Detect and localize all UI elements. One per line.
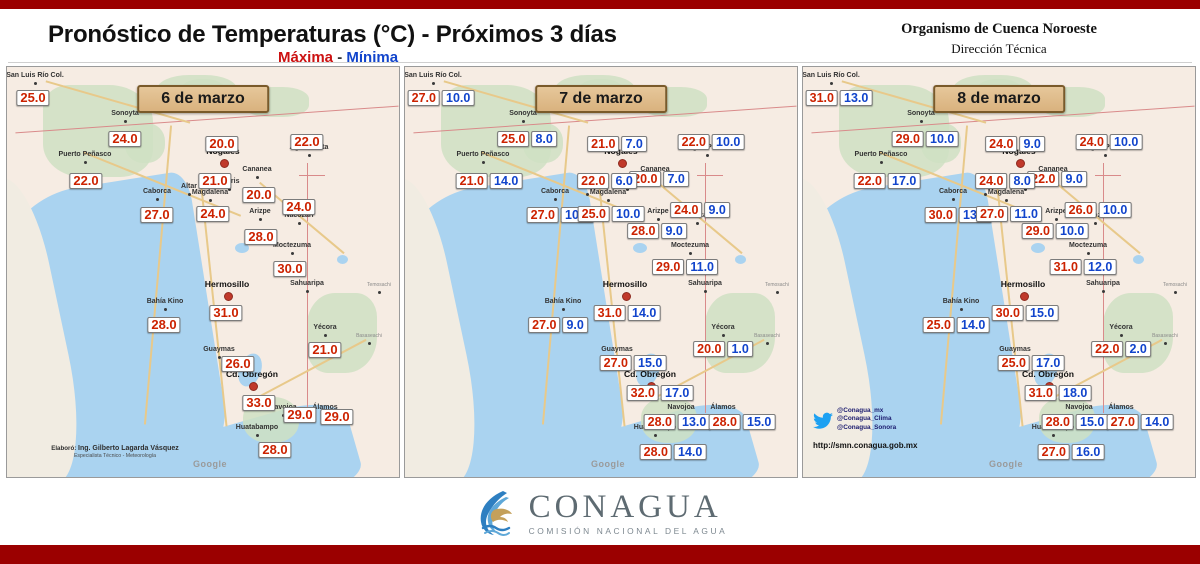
city-dot-icon	[776, 291, 779, 294]
temperature-reading-puerto-penasco: 21.014.0	[456, 173, 523, 189]
city-dot-icon	[704, 290, 707, 293]
city-dot-icon	[1087, 252, 1090, 255]
date-banner-7-de-marzo: 7 de marzo	[535, 85, 667, 113]
temperature-reading-moctezuma: 30.0	[273, 261, 306, 277]
legend-separator: -	[333, 49, 346, 66]
city-label: Sahuaripa	[1086, 280, 1120, 287]
city-dot-icon	[984, 193, 987, 196]
city-dot-icon	[218, 356, 221, 359]
city-label: Álamos	[1108, 404, 1133, 411]
temperature-reading-huatabampo: 27.016.0	[1038, 444, 1105, 460]
city-dot-icon	[1102, 290, 1105, 293]
temperature-reading-imuris: 24.08.0	[975, 173, 1035, 189]
state-border	[697, 175, 723, 176]
temperature-reading-nogales: 21.07.0	[587, 136, 647, 152]
max-temperature-value: 21.0	[587, 136, 619, 152]
temperature-reading-guaymas: 25.017.0	[998, 355, 1065, 371]
max-temperature-value: 27.0	[140, 207, 173, 223]
temperature-reading-imuris: 21.0	[198, 173, 231, 189]
min-temperature-value: 10.0	[1110, 134, 1142, 150]
city-dot-icon	[522, 120, 525, 123]
min-temperature-value: 2.0	[1125, 341, 1150, 357]
max-temperature-value: 28.0	[640, 444, 672, 460]
handle-2[interactable]: @Conagua_Clima	[837, 415, 896, 423]
max-temperature-value: 31.0	[1050, 259, 1082, 275]
city-dot-icon	[722, 334, 725, 337]
temperature-reading-bahia-kino: 25.014.0	[923, 317, 990, 333]
min-temperature-value: 15.0	[1026, 305, 1058, 321]
city-label: Bahía Kino	[545, 298, 582, 305]
city-dot-icon	[482, 161, 485, 164]
temperature-reading-navojoa: 28.015.0	[1042, 414, 1109, 430]
max-temperature-value: 30.0	[992, 305, 1024, 321]
max-temperature-value: 31.0	[1025, 385, 1057, 401]
legend-max-label: Máxima	[278, 49, 333, 66]
temperature-reading-magdalena: 27.011.0	[976, 206, 1042, 222]
min-temperature-value: 7.0	[663, 171, 688, 187]
min-temperature-value: 9.0	[661, 223, 686, 239]
logo-wordmark: CONAGUA	[529, 490, 728, 524]
map-canvas[interactable]: GoogleSan Luis Río Col.SonoytaPuerto Peñ…	[7, 67, 399, 477]
max-temperature-value: 30.0	[273, 261, 306, 277]
city-dot-icon	[220, 159, 229, 168]
temperature-reading-arizpe: 28.0	[244, 229, 277, 245]
map-panel-6-de-marzo: GoogleSan Luis Río Col.SonoytaPuerto Peñ…	[6, 66, 400, 478]
city-dot-icon	[378, 291, 381, 294]
map-panel-7-de-marzo: GoogleSan Luis Río Col.SonoytaPuerto Peñ…	[404, 66, 798, 478]
city-dot-icon	[164, 308, 167, 311]
min-temperature-value: 11.0	[686, 259, 718, 275]
city-label: Arizpe	[1045, 208, 1066, 215]
credit-author-name: Ing. Gilberto Lagarda Vásquez	[78, 445, 179, 452]
min-temperature-value: 13.0	[840, 90, 872, 106]
temperature-reading-imuris: 22.06.0	[577, 173, 637, 189]
map-panel-8-de-marzo: GoogleSan Luis Río Col.SonoytaPuerto Peñ…	[802, 66, 1196, 478]
max-temperature-value: 27.0	[1107, 414, 1139, 430]
max-temperature-value: 24.0	[1076, 134, 1108, 150]
temperature-reading-arizpe: 29.010.0	[1022, 223, 1089, 239]
max-temperature-value: 31.0	[209, 305, 242, 321]
city-label: San Luis Río Col.	[803, 72, 860, 79]
max-temperature-value: 26.0	[1065, 202, 1097, 218]
city-label: Puerto Peñasco	[855, 151, 908, 158]
max-temperature-value: 29.0	[1022, 223, 1054, 239]
temperature-reading-sonoyta: 25.08.0	[497, 131, 557, 147]
city-dot-icon	[1120, 334, 1123, 337]
map-attribution: Google	[989, 459, 1023, 469]
city-dot-icon	[1016, 159, 1025, 168]
temperature-reading-agua-prieta: 22.0	[290, 134, 323, 150]
organization-name: Organismo de Cuenca Noroeste	[834, 21, 1164, 38]
max-temperature-value: 32.0	[627, 385, 659, 401]
temperature-reading-alamos: 27.014.0	[1107, 414, 1174, 430]
temperature-reading-cd-obregon: 31.018.0	[1025, 385, 1092, 401]
top-red-bar	[0, 0, 1200, 9]
city-label: Sonoyta	[111, 110, 139, 117]
temperature-reading-guaymas: 26.0	[221, 356, 254, 372]
city-dot-icon	[689, 252, 692, 255]
max-temperature-value: 22.0	[69, 173, 102, 189]
city-dot-icon	[1005, 199, 1008, 202]
twitter-handles: @Conagua_mx@Conagua_Clima@Conagua_Sonora	[837, 407, 896, 432]
min-temperature-value: 10.0	[1056, 223, 1088, 239]
min-temperature-value: 9.0	[562, 317, 587, 333]
legend-min-label: Mínima	[346, 49, 398, 66]
city-label: Bahía Kino	[943, 298, 980, 305]
max-temperature-value: 22.0	[577, 173, 609, 189]
handle-3[interactable]: @Conagua_Sonora	[837, 424, 896, 432]
city-label: Guaymas	[601, 346, 633, 353]
max-temperature-value: 28.0	[709, 414, 741, 430]
city-label: Navojoa	[1065, 404, 1092, 411]
city-dot-icon	[308, 154, 311, 157]
city-dot-icon	[34, 82, 37, 85]
max-temperature-value: 25.0	[497, 131, 529, 147]
max-temperature-value: 30.0	[925, 207, 957, 223]
max-temperature-value: 29.0	[283, 407, 316, 423]
city-label: Guaymas	[203, 346, 235, 353]
city-label: Moctezuma	[273, 242, 311, 249]
city-label: Guaymas	[999, 346, 1031, 353]
max-temperature-value: 27.0	[528, 317, 560, 333]
min-temperature-value: 13.0	[678, 414, 710, 430]
city-dot-icon	[1094, 222, 1097, 225]
city-label: Temosachi	[367, 282, 391, 288]
date-banner-8-de-marzo: 8 de marzo	[933, 85, 1065, 113]
temperature-reading-caborca: 27.0	[140, 207, 173, 223]
city-dot-icon	[224, 292, 233, 301]
max-temperature-value: 24.0	[975, 173, 1007, 189]
reservoir	[735, 255, 746, 264]
temperature-reading-moctezuma: 31.012.0	[1050, 259, 1117, 275]
min-temperature-value: 14.0	[957, 317, 989, 333]
max-temperature-value: 21.0	[198, 173, 231, 189]
min-temperature-value: 18.0	[1059, 385, 1091, 401]
city-dot-icon	[259, 218, 262, 221]
city-dot-icon	[952, 198, 955, 201]
city-dot-icon	[920, 120, 923, 123]
city-label: Caborca	[541, 188, 569, 195]
city-label: Arizpe	[249, 208, 270, 215]
temperature-reading-cananea: 20.07.0	[629, 171, 689, 187]
map-attribution: Google	[591, 459, 625, 469]
temperature-reading-bahia-kino: 27.09.0	[528, 317, 588, 333]
min-temperature-value: 14.0	[490, 173, 522, 189]
temperature-reading-cd-obregon: 32.017.0	[627, 385, 694, 401]
temperature-reading-guaymas: 27.015.0	[600, 355, 667, 371]
max-temperature-value: 25.0	[578, 206, 610, 222]
city-label: Caborca	[143, 188, 171, 195]
min-temperature-value: 10.0	[712, 134, 744, 150]
city-dot-icon	[156, 198, 159, 201]
max-temperature-value: 31.0	[806, 90, 838, 106]
city-label: San Luis Río Col.	[7, 72, 64, 79]
min-temperature-value: 10.0	[612, 206, 644, 222]
min-temperature-value: 15.0	[634, 355, 666, 371]
temperature-reading-agua-prieta: 24.010.0	[1076, 134, 1143, 150]
conagua-logo: CONAGUA COMISIÓN NACIONAL DEL AGUA	[0, 484, 1200, 542]
city-dot-icon	[324, 334, 327, 337]
city-label: Temosachi	[1163, 282, 1187, 288]
city-dot-icon	[298, 222, 301, 225]
city-dot-icon	[622, 292, 631, 301]
legend: Máxima - Mínima	[278, 49, 398, 66]
city-dot-icon	[880, 161, 883, 164]
city-dot-icon	[562, 308, 565, 311]
city-dot-icon	[368, 342, 371, 345]
map-canvas[interactable]: GoogleSan Luis Río Col.SonoytaPuerto Peñ…	[803, 67, 1195, 477]
city-label: Moctezuma	[1069, 242, 1107, 249]
city-dot-icon	[554, 198, 557, 201]
max-temperature-value: 29.0	[892, 131, 924, 147]
min-temperature-value: 8.0	[531, 131, 556, 147]
min-temperature-value: 7.0	[621, 136, 646, 152]
temperature-reading-san-luis-rio-col: 25.0	[16, 90, 49, 106]
city-label: Magdalena	[192, 189, 228, 196]
city-label: Navojoa	[667, 404, 694, 411]
temperature-reading-puerto-penasco: 22.0	[69, 173, 102, 189]
temperature-reading-magdalena: 24.0	[196, 206, 229, 222]
min-temperature-value: 14.0	[1141, 414, 1173, 430]
city-label: Temosachi	[765, 282, 789, 288]
city-label: Sonoyta	[509, 110, 537, 117]
city-dot-icon	[306, 290, 309, 293]
city-label: Puerto Peñasco	[457, 151, 510, 158]
state-border	[1103, 163, 1104, 413]
city-label: Sahuaripa	[688, 280, 722, 287]
city-dot-icon	[124, 120, 127, 123]
max-temperature-value: 28.0	[258, 442, 291, 458]
temperature-reading-huatabampo: 28.0	[258, 442, 291, 458]
temperature-reading-cd-obregon: 33.0	[242, 395, 275, 411]
temperature-reading-yecora: 22.02.0	[1091, 341, 1151, 357]
max-temperature-value: 24.0	[282, 199, 315, 215]
max-temperature-value: 21.0	[456, 173, 488, 189]
city-label: Magdalena	[988, 189, 1024, 196]
city-label: Arizpe	[647, 208, 668, 215]
max-temperature-value: 21.0	[308, 342, 341, 358]
temperature-reading-sonoyta: 24.0	[108, 131, 141, 147]
min-temperature-value: 8.0	[1009, 173, 1034, 189]
credit-prefix: Elaboró:	[51, 445, 78, 452]
temperature-reading-navojoa: 29.0	[283, 407, 316, 423]
city-label: Huatabampo	[236, 424, 278, 431]
city-dot-icon	[960, 308, 963, 311]
temperature-reading-nogales: 24.09.0	[985, 136, 1045, 152]
temperature-reading-huatabampo: 28.014.0	[640, 444, 707, 460]
city-label: Bahía Kino	[147, 298, 184, 305]
max-temperature-value: 24.0	[108, 131, 141, 147]
map-attribution: Google	[193, 459, 227, 469]
temperature-reading-navojoa: 28.013.0	[644, 414, 711, 430]
state-border	[1095, 175, 1121, 176]
temperature-reading-cananea: 20.0	[242, 187, 275, 203]
min-temperature-value: 10.0	[1099, 202, 1131, 218]
temperature-reading-nacozari: 26.010.0	[1065, 202, 1132, 218]
city-dot-icon	[84, 161, 87, 164]
min-temperature-value: 14.0	[674, 444, 706, 460]
city-dot-icon	[654, 434, 657, 437]
max-temperature-value: 27.0	[976, 206, 1008, 222]
max-temperature-value: 28.0	[244, 229, 277, 245]
min-temperature-value: 10.0	[442, 90, 474, 106]
city-dot-icon	[586, 193, 589, 196]
reservoir	[1133, 255, 1144, 264]
city-dot-icon	[432, 82, 435, 85]
min-temperature-value: 9.0	[704, 202, 729, 218]
city-label: Basaseachi	[356, 333, 382, 339]
reservoir	[337, 255, 348, 264]
temperature-reading-nacozari: 24.0	[282, 199, 315, 215]
city-label: Yécora	[711, 324, 734, 331]
max-temperature-value: 27.0	[1038, 444, 1070, 460]
city-label: Moctezuma	[671, 242, 709, 249]
page-title: Pronóstico de Temperaturas (°C) - Próxim…	[48, 21, 617, 49]
state-border	[299, 175, 325, 176]
city-label: Cananea	[242, 166, 271, 173]
temperature-reading-alamos: 28.015.0	[709, 414, 776, 430]
temperature-reading-agua-prieta: 22.010.0	[678, 134, 745, 150]
max-temperature-value: 20.0	[693, 341, 725, 357]
city-dot-icon	[657, 218, 660, 221]
city-label: Basaseachi	[754, 333, 780, 339]
city-dot-icon	[607, 199, 610, 202]
temperature-reading-magdalena: 25.010.0	[578, 206, 645, 222]
city-label: Álamos	[710, 404, 735, 411]
temperature-reading-san-luis-rio-col: 31.013.0	[806, 90, 873, 106]
min-temperature-value: 9.0	[1019, 136, 1044, 152]
author-credit: Elaboró: Ing. Gilberto Lagarda VásquezEs…	[15, 445, 215, 459]
infographic-root: Pronóstico de Temperaturas (°C) - Próxim…	[0, 0, 1200, 564]
bottom-red-bar	[0, 545, 1200, 564]
temperature-reading-yecora: 21.0	[308, 342, 341, 358]
max-temperature-value: 27.0	[600, 355, 632, 371]
min-temperature-value: 15.0	[1076, 414, 1108, 430]
min-temperature-value: 11.0	[1010, 206, 1042, 222]
city-dot-icon	[1174, 291, 1177, 294]
logo-tagline: COMISIÓN NACIONAL DEL AGUA	[529, 526, 728, 536]
max-temperature-value: 22.0	[290, 134, 323, 150]
max-temperature-value: 22.0	[1091, 341, 1123, 357]
max-temperature-value: 28.0	[627, 223, 659, 239]
city-dot-icon	[1164, 342, 1167, 345]
conagua-water-eagle-icon	[473, 488, 519, 538]
city-label: Sonoyta	[907, 110, 935, 117]
city-label: Yécora	[313, 324, 336, 331]
max-temperature-value: 27.0	[527, 207, 559, 223]
min-temperature-value: 9.0	[1061, 171, 1086, 187]
min-temperature-value: 15.0	[743, 414, 775, 430]
temperature-reading-san-luis-rio-col: 27.010.0	[408, 90, 475, 106]
city-dot-icon	[1055, 218, 1058, 221]
max-temperature-value: 24.0	[985, 136, 1017, 152]
city-label: Basaseachi	[1152, 333, 1178, 339]
website-url[interactable]: http://smn.conagua.gob.mx	[813, 441, 917, 450]
min-temperature-value: 1.0	[727, 341, 752, 357]
city-dot-icon	[696, 222, 699, 225]
city-dot-icon	[256, 176, 259, 179]
min-temperature-value: 17.0	[888, 173, 920, 189]
temperature-reading-bahia-kino: 28.0	[147, 317, 180, 333]
min-temperature-value: 10.0	[926, 131, 958, 147]
max-temperature-value: 28.0	[1042, 414, 1074, 430]
max-temperature-value: 25.0	[998, 355, 1030, 371]
temperature-reading-yecora: 20.01.0	[693, 341, 753, 357]
max-temperature-value: 20.0	[242, 187, 275, 203]
city-dot-icon	[291, 252, 294, 255]
max-temperature-value: 22.0	[854, 173, 886, 189]
city-dot-icon	[830, 82, 833, 85]
min-temperature-value: 17.0	[661, 385, 693, 401]
max-temperature-value: 31.0	[594, 305, 626, 321]
city-dot-icon	[618, 159, 627, 168]
organization-department: Dirección Técnica	[834, 41, 1164, 57]
min-temperature-value: 16.0	[1072, 444, 1104, 460]
city-dot-icon	[256, 434, 259, 437]
temperature-reading-sonoyta: 29.010.0	[892, 131, 959, 147]
city-label: Sahuaripa	[290, 280, 324, 287]
min-temperature-value: 14.0	[628, 305, 660, 321]
temperature-reading-nacozari: 24.09.0	[670, 202, 730, 218]
city-label: Caborca	[939, 188, 967, 195]
max-temperature-value: 29.0	[320, 409, 353, 425]
twitter-icon	[813, 412, 833, 430]
max-temperature-value: 28.0	[644, 414, 676, 430]
max-temperature-value: 28.0	[147, 317, 180, 333]
city-label: Hermosillo	[205, 279, 249, 289]
reservoir	[1031, 243, 1045, 253]
organization-block: Organismo de Cuenca Noroeste Dirección T…	[834, 21, 1164, 57]
header: Pronóstico de Temperaturas (°C) - Próxim…	[8, 9, 1192, 63]
max-temperature-value: 22.0	[678, 134, 710, 150]
max-temperature-value: 33.0	[242, 395, 275, 411]
max-temperature-value: 20.0	[205, 136, 238, 152]
temperature-reading-cananea: 22.09.0	[1027, 171, 1087, 187]
state-border	[705, 163, 706, 413]
city-dot-icon	[209, 199, 212, 202]
city-dot-icon	[766, 342, 769, 345]
max-temperature-value: 25.0	[16, 90, 49, 106]
max-temperature-value: 24.0	[196, 206, 229, 222]
temperature-reading-hermosillo: 30.015.0	[992, 305, 1059, 321]
city-label: Magdalena	[590, 189, 626, 196]
map-canvas[interactable]: GoogleSan Luis Río Col.SonoytaPuerto Peñ…	[405, 67, 797, 477]
max-temperature-value: 25.0	[923, 317, 955, 333]
city-label: Hermosillo	[603, 279, 647, 289]
temperature-reading-arizpe: 28.09.0	[627, 223, 687, 239]
min-temperature-value: 6.0	[611, 173, 636, 189]
city-dot-icon	[249, 382, 258, 391]
city-dot-icon	[188, 193, 191, 196]
min-temperature-value: 17.0	[1032, 355, 1064, 371]
date-banner-6-de-marzo: 6 de marzo	[137, 85, 269, 113]
city-label: San Luis Río Col.	[405, 72, 462, 79]
handle-1[interactable]: @Conagua_mx	[837, 407, 896, 415]
city-label: Yécora	[1109, 324, 1132, 331]
city-dot-icon	[1104, 154, 1107, 157]
temperature-reading-puerto-penasco: 22.017.0	[854, 173, 921, 189]
temperature-reading-hermosillo: 31.014.0	[594, 305, 661, 321]
max-temperature-value: 29.0	[652, 259, 684, 275]
temperature-reading-hermosillo: 31.0	[209, 305, 242, 321]
city-dot-icon	[706, 154, 709, 157]
temperature-reading-moctezuma: 29.011.0	[652, 259, 718, 275]
reservoir	[633, 243, 647, 253]
temperature-reading-alamos: 29.0	[320, 409, 353, 425]
city-dot-icon	[1020, 292, 1029, 301]
city-label: Hermosillo	[1001, 279, 1045, 289]
max-temperature-value: 26.0	[221, 356, 254, 372]
